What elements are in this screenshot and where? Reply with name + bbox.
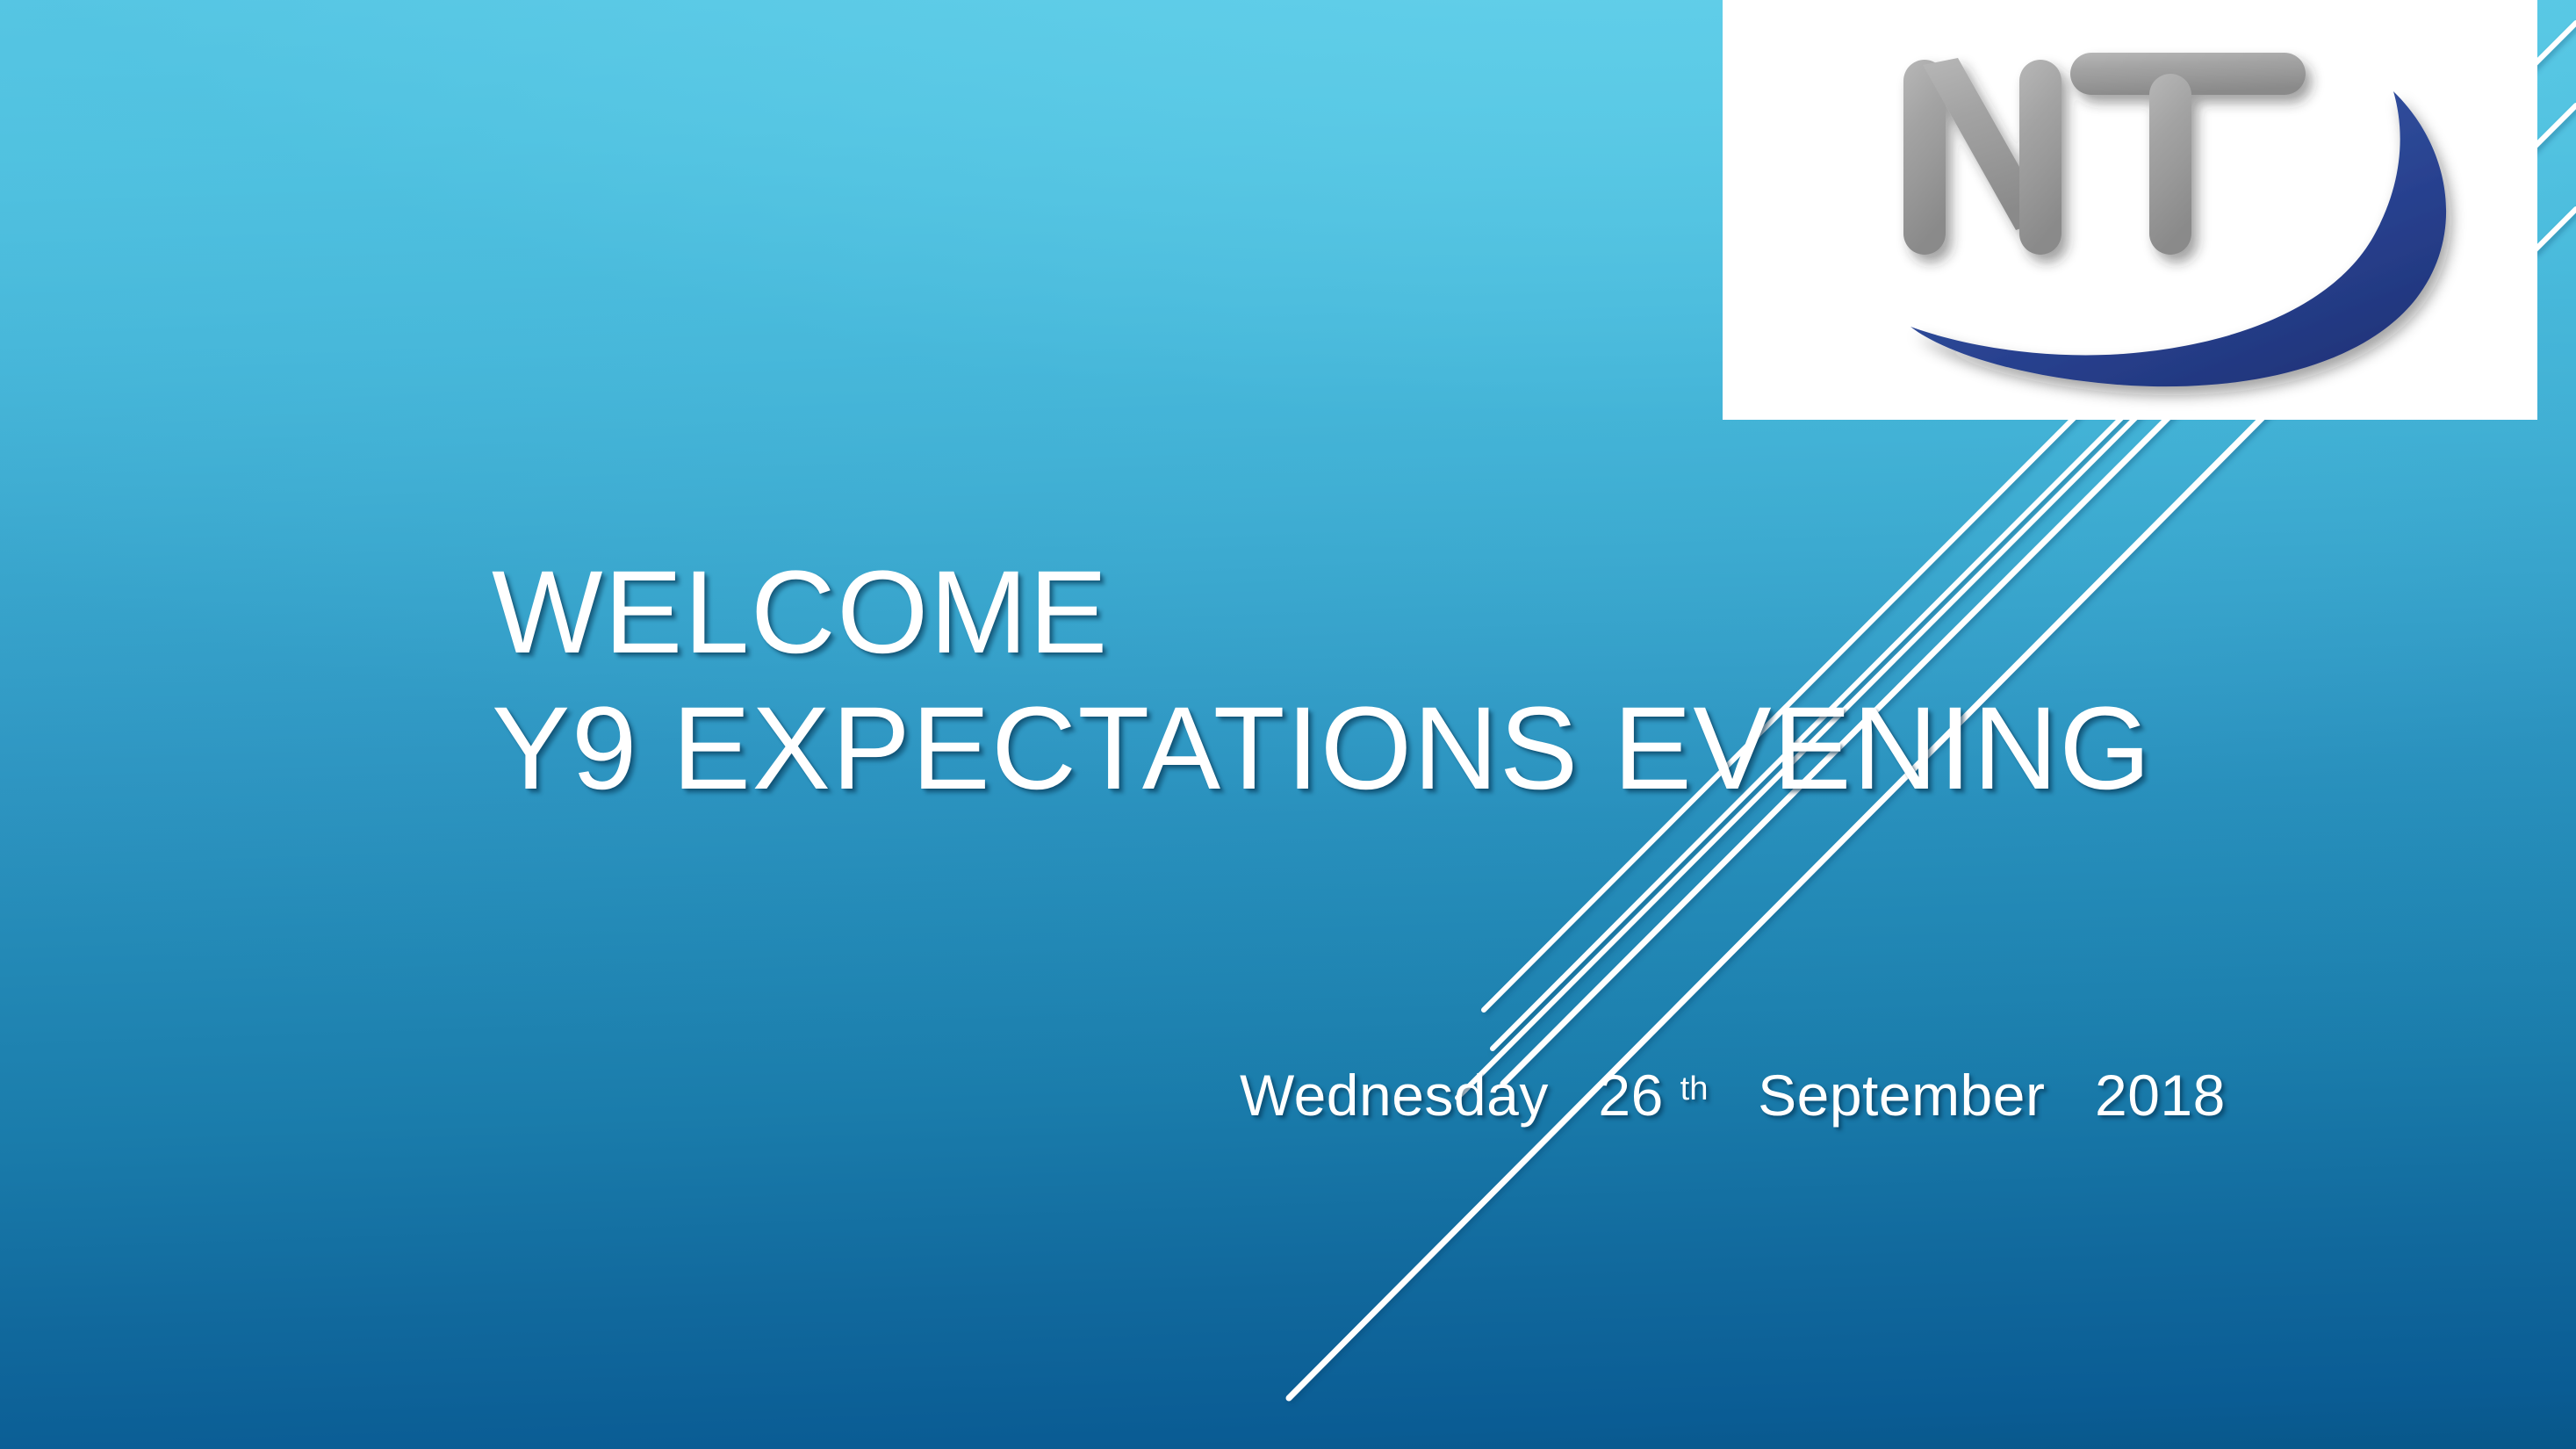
date-subtitle: Wednesday 26 th September 2018 — [1240, 1061, 2226, 1139]
logo-card — [1723, 0, 2537, 420]
subtitle-month: September — [1758, 1063, 2045, 1128]
deco-line-corner-3 — [2532, 23, 2576, 67]
deco-line-1 — [1289, 378, 2302, 1398]
subtitle-space-1 — [1565, 1063, 1582, 1128]
title-line-2: Y9 EXPECTATIONS EVENING — [492, 681, 2160, 817]
subtitle-space-3 — [2062, 1063, 2078, 1128]
subtitle-space-2 — [1724, 1063, 1741, 1128]
logo-letters — [1903, 53, 2306, 255]
nt-logo-svg — [1723, 0, 2537, 420]
title-slide: WELCOME Y9 EXPECTATIONS EVENING Wednesda… — [0, 0, 2576, 1449]
subtitle-weekday: Wednesday — [1240, 1063, 1549, 1128]
deco-line-corner-1 — [2534, 209, 2576, 251]
subtitle-year: 2018 — [2095, 1063, 2226, 1128]
subtitle-day-number: 26 — [1598, 1063, 1663, 1128]
subtitle-day-ordinal: th — [1680, 1070, 1709, 1107]
title-block: WELCOME Y9 EXPECTATIONS EVENING — [492, 544, 2160, 817]
title-line-1: WELCOME — [492, 544, 2160, 681]
nt-logo-icon — [1723, 0, 2537, 420]
